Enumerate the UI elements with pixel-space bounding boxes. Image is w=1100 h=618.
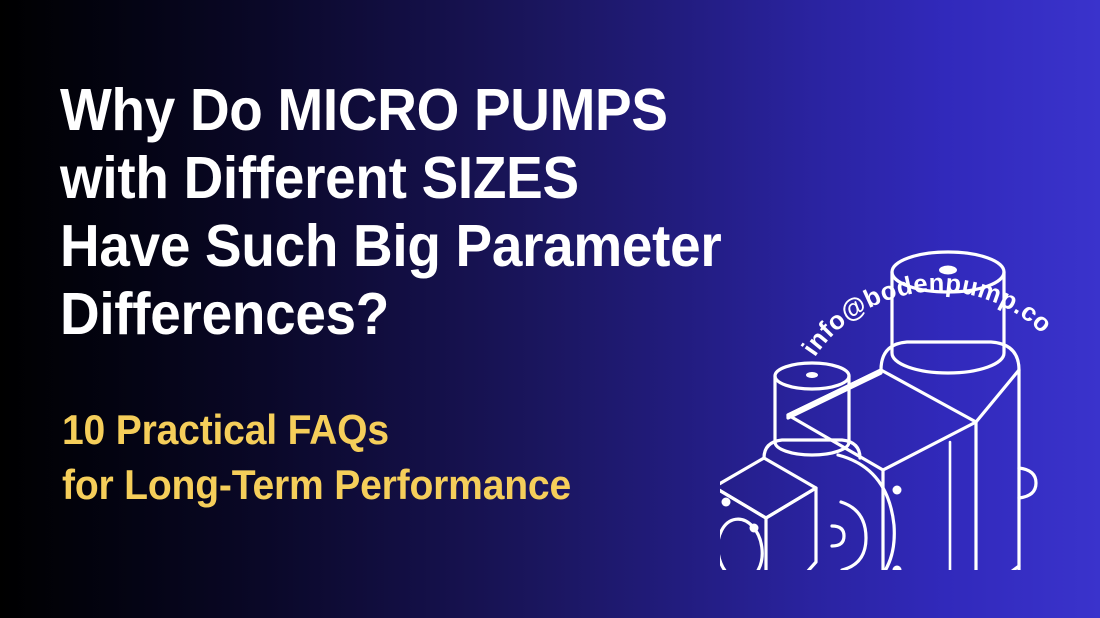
promo-banner: Why Do MICRO PUMPS with Different SIZES … xyxy=(0,0,1100,618)
large-pump-bolt-bottom xyxy=(893,566,902,571)
subheadline-line-2: for Long-Term Performance xyxy=(62,457,806,512)
large-pump-housing-right xyxy=(976,370,1019,570)
large-pump-side-port xyxy=(1019,468,1036,498)
pump-illustration-group: info@bodenpump.com xyxy=(720,150,1100,570)
small-pump-flange-right xyxy=(766,488,816,570)
small-pump-flange-top xyxy=(720,458,816,518)
email-arc-textpath: info@bodenpump.com xyxy=(720,150,1057,361)
large-pump-cap-dot xyxy=(939,266,957,275)
headline-line-4: Differences? xyxy=(60,280,804,348)
small-pump-bolt-tl xyxy=(722,498,731,507)
subheadline-line-1: 10 Practical FAQs xyxy=(62,402,806,457)
headline-line-2: with Different SIZES xyxy=(60,144,804,212)
email-arc-text: info@bodenpump.com xyxy=(720,150,1057,361)
small-pump-graphic xyxy=(720,363,894,570)
headline-line-3: Have Such Big Parameter xyxy=(60,212,804,280)
large-pump-bolt-top xyxy=(893,486,902,495)
small-pump-inlet-opening xyxy=(720,516,766,570)
small-pump-bolt-tr xyxy=(750,524,759,533)
small-pump-cap-dot xyxy=(806,372,818,378)
small-pump-volute-lug xyxy=(832,526,844,546)
headline-line-1: Why Do MICRO PUMPS xyxy=(60,76,804,144)
